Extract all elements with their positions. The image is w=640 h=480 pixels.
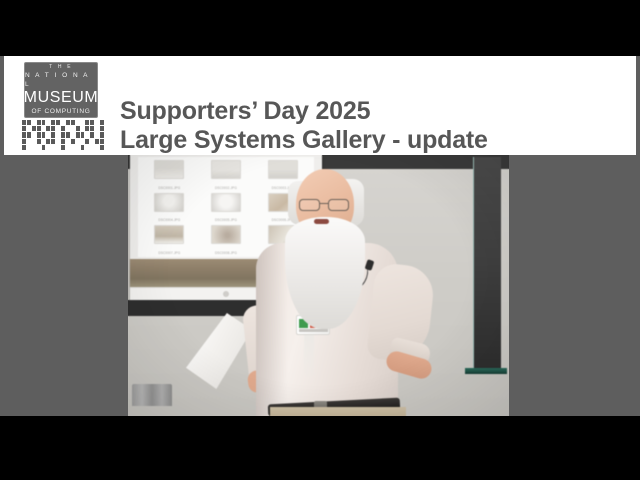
glasses-bridge: [320, 203, 328, 204]
punch-card-dot: [61, 139, 65, 144]
punch-card-dot: [85, 126, 89, 131]
punch-card-dot: [76, 120, 80, 125]
punch-card-dot: [42, 132, 46, 137]
punch-card-dot: [81, 120, 85, 125]
punch-card-dot: [85, 139, 89, 144]
punch-card-dot: [66, 126, 70, 131]
punch-card-dot: [56, 145, 60, 150]
punch-card-dot: [32, 120, 36, 125]
logo-plate: T H E N A T I O N A L MUSEUM OF COMPUTIN…: [24, 62, 98, 118]
punch-card-dot: [22, 132, 26, 137]
punch-card-dot: [51, 139, 55, 144]
punch-card-dot: [51, 145, 55, 150]
punch-card-dot: [90, 145, 94, 150]
punch-card-dot: [32, 132, 36, 137]
glasses-icon: [299, 199, 353, 211]
badge-bar: [299, 329, 328, 332]
punch-card-dot: [42, 145, 46, 150]
punch-card-dot: [71, 139, 75, 144]
punch-card-dot: [46, 132, 50, 137]
glasses-lens-right: [328, 199, 349, 211]
punch-card-dot: [32, 145, 36, 150]
punch-card-dot: [22, 145, 26, 150]
slide-body: DSC0001.JPG DSC0002.JPG DSC0003.JPG DSC0…: [0, 56, 640, 416]
punch-card-dot: [37, 126, 41, 131]
punch-card-dot: [22, 126, 26, 131]
punch-card-dot: [22, 139, 26, 144]
punch-card-dot: [81, 126, 85, 131]
punch-card-dot: [71, 120, 75, 125]
punch-card-dot: [100, 145, 104, 150]
punch-card-dot: [95, 126, 99, 131]
punch-card-dot: [27, 132, 31, 137]
punch-card-dot: [56, 132, 60, 137]
punch-card-dot: [66, 145, 70, 150]
badge-lower-sleeve: [304, 335, 314, 377]
punch-card-dot: [76, 145, 80, 150]
punch-card-dot: [81, 139, 85, 144]
punch-card-dot: [95, 132, 99, 137]
punch-card-dot: [56, 139, 60, 144]
presenter: [128, 155, 509, 416]
punch-card-dot: [42, 139, 46, 144]
punch-card-dot: [66, 132, 70, 137]
punch-card-dot: [37, 145, 41, 150]
tnmoc-logo: T H E N A T I O N A L MUSEUM OF COMPUTIN…: [18, 60, 106, 152]
punch-card-dot: [76, 132, 80, 137]
slide-title-band: T H E N A T I O N A L MUSEUM OF COMPUTIN…: [4, 56, 636, 155]
punch-card-dot: [90, 126, 94, 131]
punch-card-dot: [42, 126, 46, 131]
logo-line-national: N A T I O N A L: [25, 71, 97, 89]
punch-card-dot: [100, 126, 104, 131]
punch-card-dot: [37, 120, 41, 125]
page-title-line-2: Large Systems Gallery - update: [120, 126, 488, 155]
letterbox-top: [0, 0, 640, 56]
punch-card-dot: [85, 132, 89, 137]
punch-card-dot-pattern: [22, 120, 104, 150]
punch-card-dot: [61, 126, 65, 131]
punch-card-dot: [51, 126, 55, 131]
punch-card-dot: [37, 132, 41, 137]
punch-card-dot: [81, 132, 85, 137]
presentation-photo: DSC0001.JPG DSC0002.JPG DSC0003.JPG DSC0…: [128, 155, 509, 416]
page-title-line-1: Supporters’ Day 2025: [120, 97, 370, 125]
page-title: Supporters’ Day 2025 Large Systems Galle…: [120, 68, 488, 184]
punch-card-dot: [85, 120, 89, 125]
logo-line-of-computing: OF COMPUTING: [32, 107, 91, 116]
punch-card-dot: [42, 120, 46, 125]
punch-card-dot: [100, 120, 104, 125]
punch-card-dot: [32, 126, 36, 131]
punch-card-dot: [71, 132, 75, 137]
punch-card-dot: [61, 120, 65, 125]
punch-card-dot: [76, 139, 80, 144]
logo-line-the: T H E: [49, 64, 73, 71]
punch-card-dot: [27, 120, 31, 125]
shirt-shadow: [256, 243, 288, 416]
punch-card-dot: [90, 132, 94, 137]
slide-stage: DSC0001.JPG DSC0002.JPG DSC0003.JPG DSC0…: [0, 0, 640, 480]
glasses-lens-left: [299, 199, 320, 211]
punch-card-dot: [46, 126, 50, 131]
punch-card-dot: [90, 139, 94, 144]
punch-card-dot: [95, 139, 99, 144]
punch-card-dot: [46, 139, 50, 144]
punch-card-dot: [27, 139, 31, 144]
punch-card-dot: [51, 120, 55, 125]
punch-card-dot: [37, 139, 41, 144]
punch-card-dot: [61, 132, 65, 137]
rolled-papers: [186, 313, 252, 389]
punch-card-dot: [61, 145, 65, 150]
punch-card-dot: [100, 139, 104, 144]
punch-card-dot: [66, 120, 70, 125]
punch-card-dot: [27, 126, 31, 131]
punch-card-dot: [85, 145, 89, 150]
punch-card-dot: [32, 139, 36, 144]
punch-card-dot: [56, 120, 60, 125]
punch-card-dot: [66, 139, 70, 144]
punch-card-dot: [90, 120, 94, 125]
punch-card-dot: [27, 145, 31, 150]
punch-card-dot: [100, 132, 104, 137]
punch-card-dot: [71, 126, 75, 131]
punch-card-dot: [76, 126, 80, 131]
logo-line-museum: MUSEUM: [24, 89, 99, 107]
presenter-mouth: [314, 219, 329, 224]
punch-card-dot: [81, 145, 85, 150]
punch-card-dot: [95, 145, 99, 150]
presenter-trousers: [270, 407, 406, 416]
punch-card-dot: [46, 145, 50, 150]
punch-card-dot: [95, 120, 99, 125]
punch-card-dot: [56, 126, 60, 131]
punch-card-dot: [71, 145, 75, 150]
punch-card-dot: [51, 132, 55, 137]
punch-card-dot: [22, 120, 26, 125]
letterbox-bottom: [0, 416, 640, 480]
punch-card-dot: [46, 120, 50, 125]
